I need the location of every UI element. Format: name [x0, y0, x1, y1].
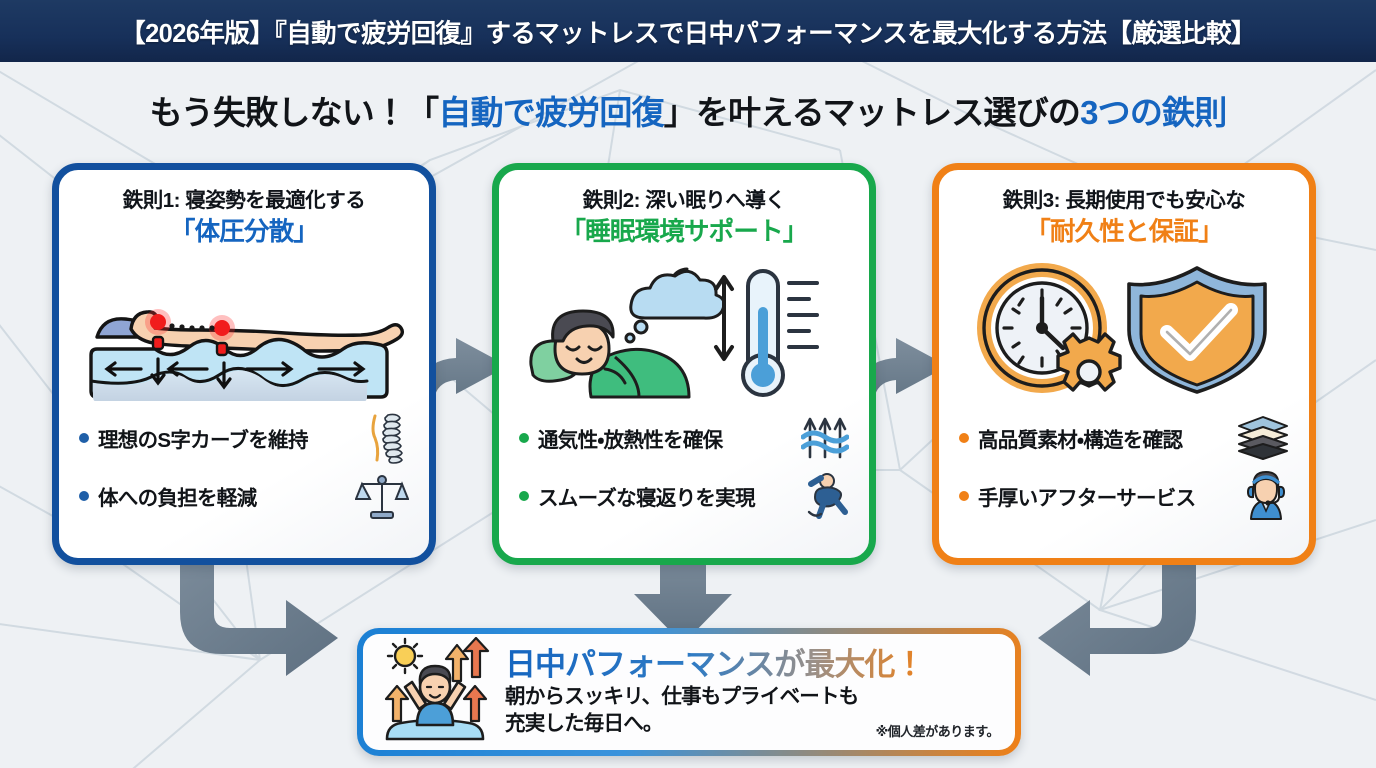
- card-1-bullets: 理想のS字カーブを維持 体への負担を軽減: [73, 409, 415, 525]
- person-waking-up-arrows-icon: [379, 637, 491, 748]
- card-3-bullet-1: 高品質素材・構造を確認: [959, 409, 1289, 467]
- bullet-dot-icon: [519, 491, 529, 501]
- result-subline-1: 朝からスッキリ、仕事もプライベートも: [505, 684, 1001, 710]
- rolling-person-icon: [803, 472, 849, 520]
- support-agent-icon: [1243, 471, 1289, 521]
- subtitle-part-1: もう失敗しない！「: [150, 94, 439, 131]
- card-1-keyword: 「体圧分散」: [170, 217, 318, 249]
- result-summary-box: 日中パフォーマンスが最大化！ 朝からスッキリ、仕事もプライベートも 充実した毎日…: [357, 628, 1021, 756]
- rule-card-1: 鉄則1: 寝姿勢を最適化する 「体圧分散」: [52, 163, 436, 565]
- arrow-card1-to-result: [176, 556, 376, 691]
- rule-card-3: 鉄則3: 長期使用でも安心な 「耐久性と保証」: [932, 163, 1316, 565]
- card-1-title: 鉄則1: 寝姿勢を最適化する: [123, 188, 365, 215]
- card-2-keyword: 「睡眠環境サポート」: [560, 217, 807, 249]
- bullet-dot-icon: [959, 491, 969, 501]
- spine-icon: [369, 412, 409, 464]
- card-2-illustration: [513, 255, 855, 405]
- card-2-bullet-2: スムーズな寝返りを実現: [519, 467, 849, 525]
- card-3-illustration: [953, 255, 1295, 405]
- card-3-bullet-2-text: 手厚いアフターサービス: [978, 481, 1234, 511]
- card-2-bullet-2-text: スムーズな寝返りを実現: [538, 481, 794, 511]
- card-3-title: 鉄則3: 長期使用でも安心な: [1003, 188, 1245, 215]
- card-1-bullet-1: 理想のS字カーブを維持: [79, 409, 409, 467]
- bullet-dot-icon: [519, 433, 529, 443]
- card-1-illustration: [73, 255, 415, 405]
- layers-icon: [1237, 415, 1289, 461]
- subtitle-highlight-2: 3つの鉄則: [1080, 94, 1226, 131]
- subtitle-highlight-1: 自動で疲労回復: [438, 94, 663, 131]
- card-2-bullet-1-text: 通気性・放熱性を確保: [538, 423, 792, 453]
- header-bar: 【2026年版】『自動で疲労回復』するマットレスで日中パフォーマンスを最大化する…: [0, 0, 1376, 62]
- page-title: 【2026年版】『自動で疲労回復』するマットレスで日中パフォーマンスを最大化する…: [120, 13, 1256, 50]
- airflow-icon: [801, 413, 849, 463]
- card-3-bullet-2: 手厚いアフターサービス: [959, 467, 1289, 525]
- bullet-dot-icon: [79, 433, 89, 443]
- bullet-dot-icon: [959, 433, 969, 443]
- bullet-dot-icon: [79, 491, 89, 501]
- card-3-bullet-1-text: 高品質素材・構造を確認: [978, 423, 1228, 453]
- result-text-block: 日中パフォーマンスが最大化！ 朝からスッキリ、仕事もプライベートも 充実した毎日…: [505, 647, 1001, 737]
- card-2-bullet-1: 通気性・放熱性を確保: [519, 409, 849, 467]
- rule-card-2: 鉄則2: 深い眠りへ導く 「睡眠環境サポート」: [492, 163, 876, 565]
- card-2-bullets: 通気性・放熱性を確保 スムーズな寝返りを実現: [513, 409, 855, 525]
- card-1-bullet-2-text: 体への負担を軽減: [98, 481, 346, 511]
- subtitle: もう失敗しない！「自動で疲労回復」を叶えるマットレス選びの3つの鉄則: [0, 86, 1376, 134]
- result-headline: 日中パフォーマンスが最大化！: [505, 647, 1001, 683]
- arrow-card3-to-result: [1000, 556, 1200, 691]
- balance-scale-icon: [355, 472, 409, 520]
- card-3-bullets: 高品質素材・構造を確認 手厚いアフターサービス: [953, 409, 1295, 525]
- card-2-title: 鉄則2: 深い眠りへ導く: [583, 188, 785, 215]
- card-3-keyword: 「耐久性と保証」: [1025, 217, 1223, 249]
- subtitle-part-2: 」を叶えるマットレス選びの: [664, 94, 1080, 131]
- result-disclaimer-note: ※個人差があります。: [876, 721, 999, 740]
- card-1-bullet-2: 体への負担を軽減: [79, 467, 409, 525]
- card-1-bullet-1-text: 理想のS字カーブを維持: [98, 423, 360, 453]
